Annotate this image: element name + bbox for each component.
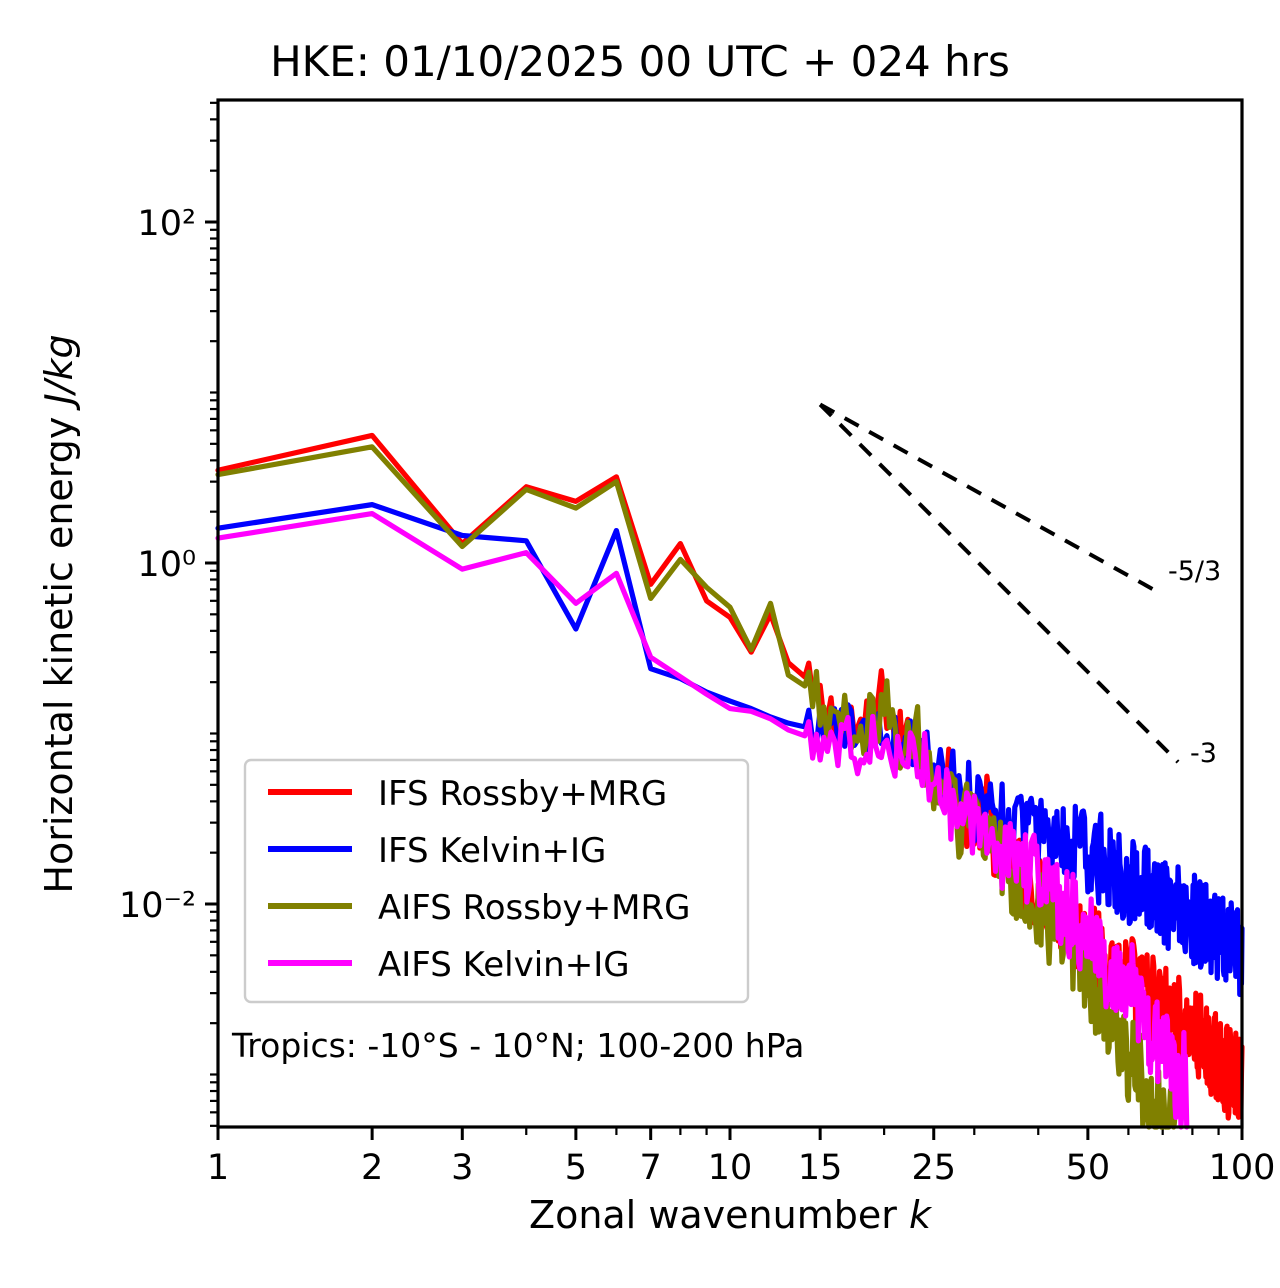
x-tick-label-100: 100	[1209, 1148, 1276, 1188]
x-tick-label-1: 1	[207, 1148, 229, 1188]
x-tick-label-50: 50	[1066, 1148, 1111, 1188]
figure-root: HKE: 01/10/2025 00 UTC + 024 hrs 1235710…	[0, 0, 1280, 1288]
y-tick-label-1e0: 10⁰	[137, 545, 196, 585]
legend: IFS Rossby+MRGIFS Kelvin+IGAIFS Rossby+M…	[245, 760, 748, 1002]
y-tick-label-1e2: 10²	[137, 204, 196, 244]
legend-label-0: IFS Rossby+MRG	[378, 774, 667, 814]
x-tick-label-15: 15	[798, 1148, 843, 1188]
legend-label-2: AIFS Rossby+MRG	[378, 888, 690, 928]
legend-label-1: IFS Kelvin+IG	[378, 831, 606, 871]
x-tick-label-25: 25	[911, 1148, 956, 1188]
y-tick-label-1e-2: 10⁻²	[119, 886, 196, 926]
x-tick-label-5: 5	[565, 1148, 587, 1188]
reference-line--5-3	[820, 405, 1163, 595]
hke-spectrum-chart: 123571015255010010²10⁰10⁻² Horizontal ki…	[0, 0, 1280, 1288]
legend-label-3: AIFS Kelvin+IG	[378, 945, 630, 985]
slope-label-five-thirds: -5/3	[1168, 556, 1221, 587]
x-tick-label-2: 2	[361, 1148, 383, 1188]
slope-label-minus-three: -3	[1190, 738, 1217, 769]
x-tick-label-7: 7	[640, 1148, 662, 1188]
x-axis-title: Zonal wavenumber k	[529, 1193, 933, 1237]
x-tick-label-10: 10	[708, 1148, 753, 1188]
x-tick-label-3: 3	[451, 1148, 473, 1188]
y-axis-title: Horizontal kinetic energy J/kg	[37, 334, 81, 893]
region-annotation: Tropics: -10°S - 10°N; 100-200 hPa	[231, 1026, 804, 1065]
